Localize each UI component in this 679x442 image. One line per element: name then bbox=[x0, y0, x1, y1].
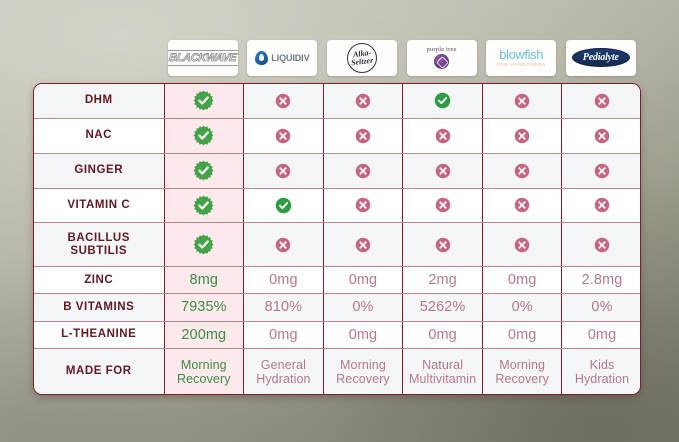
pink-cross-icon bbox=[403, 197, 482, 213]
cell-liquidiv: GeneralHydration bbox=[244, 349, 324, 394]
cell-value: 2.8mg bbox=[562, 272, 641, 288]
cell-value: 8mg bbox=[165, 272, 244, 288]
cell-value: 200mg bbox=[165, 327, 244, 343]
cell-alkaseltzer bbox=[323, 118, 403, 153]
pink-cross-icon bbox=[562, 93, 641, 109]
cell-value-line2: Recovery bbox=[165, 372, 244, 386]
cell-blowfish bbox=[482, 223, 562, 267]
cell-value-line1: Morning bbox=[324, 358, 403, 372]
brand-logo-pedialyte: Pedialyte bbox=[561, 37, 641, 78]
cell-value: 0% bbox=[483, 299, 562, 315]
purple-tree-wordmark: purple tree bbox=[426, 46, 456, 53]
cell-value-line2: Recovery bbox=[324, 372, 403, 386]
cell-value: 7935% bbox=[165, 299, 244, 315]
cell-liquidiv bbox=[244, 153, 324, 188]
cell-liquidiv: 810% bbox=[244, 294, 324, 321]
cell-purpletree bbox=[403, 118, 483, 153]
blackwave-logo: BLACKWAVE bbox=[168, 50, 238, 66]
row-label-made-for: MADE FOR bbox=[34, 349, 164, 394]
cell-value: 0mg bbox=[562, 327, 641, 343]
pink-cross-icon bbox=[324, 93, 403, 109]
cell-value-line2: Multivitamin bbox=[403, 372, 482, 386]
cell-blackwave bbox=[164, 153, 244, 188]
alka-seltzer-logo: Alka- Seltzer bbox=[347, 43, 377, 73]
pink-cross-icon bbox=[324, 163, 403, 179]
cell-blackwave bbox=[164, 84, 244, 118]
pink-cross-icon bbox=[244, 93, 323, 109]
pink-cross-icon bbox=[562, 128, 641, 144]
pink-cross-icon bbox=[403, 163, 482, 179]
purple-tree-emblem-icon bbox=[434, 54, 449, 69]
liquidiv-wordmark: LIQUIDIV bbox=[271, 53, 309, 63]
cell-pedialyte bbox=[562, 153, 641, 188]
brand-logo-purpletree: purple tree bbox=[402, 37, 482, 78]
cell-purpletree: NaturalMultivitamin bbox=[403, 349, 483, 394]
table-row: NAC bbox=[34, 118, 641, 153]
table-row: DHM bbox=[34, 84, 641, 118]
pink-cross-icon bbox=[244, 128, 323, 144]
pink-cross-icon bbox=[244, 163, 323, 179]
blowfish-logo: blowfish FOR HANGOVERS bbox=[496, 48, 545, 67]
cell-value: 0mg bbox=[324, 327, 403, 343]
cell-value: 2mg bbox=[403, 272, 482, 288]
row-label-b-vitamins: B VITAMINS bbox=[34, 294, 164, 321]
pink-cross-icon bbox=[483, 128, 562, 144]
pink-cross-icon bbox=[403, 237, 482, 253]
cell-blowfish bbox=[482, 84, 562, 118]
cell-pedialyte: 0mg bbox=[562, 321, 641, 348]
purple-tree-logo: purple tree bbox=[426, 46, 456, 69]
cell-liquidiv: 0mg bbox=[244, 267, 324, 294]
green-check-icon bbox=[403, 92, 482, 109]
brand-logo-blowfish: blowfish FOR HANGOVERS bbox=[481, 37, 561, 78]
cell-value-line2: Recovery bbox=[483, 372, 562, 386]
green-check-badge-icon bbox=[165, 125, 244, 146]
cell-value: 0mg bbox=[403, 327, 482, 343]
water-drop-icon bbox=[255, 51, 268, 65]
cell-purpletree bbox=[403, 153, 483, 188]
comparison-table: DHMNACGINGERVITAMIN CBACILLUSSUBTILISZIN… bbox=[34, 84, 641, 394]
cell-alkaseltzer: 0mg bbox=[323, 267, 403, 294]
cell-alkaseltzer bbox=[323, 223, 403, 267]
table-row: GINGER bbox=[34, 153, 641, 188]
blowfish-tagline: FOR HANGOVERS bbox=[496, 62, 545, 67]
cell-pedialyte: KidsHydration bbox=[562, 349, 641, 394]
cell-blackwave: MorningRecovery bbox=[164, 349, 244, 394]
cell-value-line1: Natural bbox=[403, 358, 482, 372]
cell-value: 0mg bbox=[483, 327, 562, 343]
brand-logo-liquidiv: LIQUIDIV bbox=[243, 37, 323, 78]
pink-cross-icon bbox=[324, 197, 403, 213]
cell-alkaseltzer: MorningRecovery bbox=[323, 349, 403, 394]
cell-liquidiv bbox=[244, 84, 324, 118]
green-check-badge-icon bbox=[165, 234, 244, 255]
cell-blackwave: 200mg bbox=[164, 321, 244, 348]
cell-pedialyte bbox=[562, 118, 641, 153]
pink-cross-icon bbox=[483, 197, 562, 213]
cell-value-line1: Morning bbox=[165, 358, 244, 372]
cell-value: 0mg bbox=[324, 272, 403, 288]
row-label-ginger: GINGER bbox=[34, 153, 164, 188]
table-row: MADE FORMorningRecoveryGeneralHydrationM… bbox=[34, 349, 641, 394]
cell-value-line1: Morning bbox=[483, 358, 562, 372]
row-label-zinc: ZINC bbox=[34, 267, 164, 294]
cell-value-line1: Kids bbox=[562, 358, 641, 372]
brand-logo-strip: BLACKWAVE LIQUIDIV Alka- Seltzer purple … bbox=[163, 37, 641, 78]
cell-purpletree: 2mg bbox=[403, 267, 483, 294]
pink-cross-icon bbox=[562, 197, 641, 213]
cell-alkaseltzer bbox=[323, 153, 403, 188]
pink-cross-icon bbox=[562, 237, 641, 253]
pink-cross-icon bbox=[562, 163, 641, 179]
cell-purpletree: 0mg bbox=[403, 321, 483, 348]
cell-value-line2: Hydration bbox=[562, 372, 641, 386]
cell-pedialyte: 0% bbox=[562, 294, 641, 321]
cell-blowfish bbox=[482, 118, 562, 153]
alka-seltzer-line2: Seltzer bbox=[350, 56, 373, 66]
cell-alkaseltzer bbox=[323, 84, 403, 118]
pink-cross-icon bbox=[324, 128, 403, 144]
green-check-badge-icon bbox=[165, 195, 244, 216]
cell-pedialyte bbox=[562, 223, 641, 267]
green-check-badge-icon bbox=[165, 90, 244, 111]
cell-value-line1: General bbox=[244, 358, 323, 372]
pink-cross-icon bbox=[483, 237, 562, 253]
brand-logo-blackwave: BLACKWAVE bbox=[163, 37, 243, 78]
cell-blowfish: 0% bbox=[482, 294, 562, 321]
comparison-table-card: DHMNACGINGERVITAMIN CBACILLUSSUBTILISZIN… bbox=[33, 83, 641, 395]
cell-blowfish: 0mg bbox=[482, 267, 562, 294]
cell-blowfish bbox=[482, 153, 562, 188]
table-row: L-THEANINE200mg0mg0mg0mg0mg0mg bbox=[34, 321, 641, 348]
pedialyte-logo: Pedialyte bbox=[572, 48, 630, 67]
row-label-l-theanine: L-THEANINE bbox=[34, 321, 164, 348]
green-check-icon bbox=[244, 197, 323, 214]
comparison-table-body: DHMNACGINGERVITAMIN CBACILLUSSUBTILISZIN… bbox=[34, 84, 641, 394]
pink-cross-icon bbox=[483, 163, 562, 179]
pink-cross-icon bbox=[403, 128, 482, 144]
cell-blowfish: 0mg bbox=[482, 321, 562, 348]
cell-value: 810% bbox=[244, 299, 323, 315]
table-row: VITAMIN C bbox=[34, 188, 641, 223]
liquidiv-logo: LIQUIDIV bbox=[255, 51, 309, 65]
blowfish-wordmark: blowfish bbox=[499, 48, 543, 61]
cell-liquidiv: 0mg bbox=[244, 321, 324, 348]
cell-pedialyte bbox=[562, 188, 641, 223]
table-row: B VITAMINS7935%810%0%5262%0%0% bbox=[34, 294, 641, 321]
green-check-badge-icon bbox=[165, 160, 244, 181]
cell-pedialyte: 2.8mg bbox=[562, 267, 641, 294]
cell-alkaseltzer bbox=[323, 188, 403, 223]
cell-value: 0mg bbox=[483, 272, 562, 288]
cell-value: 5262% bbox=[403, 299, 482, 315]
cell-liquidiv bbox=[244, 118, 324, 153]
pink-cross-icon bbox=[324, 237, 403, 253]
table-row: BACILLUSSUBTILIS bbox=[34, 223, 641, 267]
row-label-line2: SUBTILIS bbox=[34, 245, 164, 258]
pedialyte-wordmark: Pedialyte bbox=[583, 52, 619, 63]
cell-blackwave bbox=[164, 188, 244, 223]
cell-blackwave bbox=[164, 118, 244, 153]
cell-blowfish bbox=[482, 188, 562, 223]
cell-blackwave: 7935% bbox=[164, 294, 244, 321]
cell-blackwave: 8mg bbox=[164, 267, 244, 294]
cell-blackwave bbox=[164, 223, 244, 267]
cell-alkaseltzer: 0mg bbox=[323, 321, 403, 348]
row-label-dhm: DHM bbox=[34, 84, 164, 118]
pink-cross-icon bbox=[244, 237, 323, 253]
cell-purpletree bbox=[403, 84, 483, 118]
cell-purpletree bbox=[403, 223, 483, 267]
cell-pedialyte bbox=[562, 84, 641, 118]
pink-cross-icon bbox=[483, 93, 562, 109]
cell-value: 0mg bbox=[244, 327, 323, 343]
table-row: ZINC8mg0mg0mg2mg0mg2.8mg bbox=[34, 267, 641, 294]
cell-blowfish: MorningRecovery bbox=[482, 349, 562, 394]
brand-logo-alkaseltzer: Alka- Seltzer bbox=[322, 37, 402, 78]
row-label-vitamin-c: VITAMIN C bbox=[34, 188, 164, 223]
row-label-line1: BACILLUS bbox=[34, 232, 164, 245]
row-label-nac: NAC bbox=[34, 118, 164, 153]
cell-value: 0mg bbox=[244, 272, 323, 288]
cell-purpletree: 5262% bbox=[403, 294, 483, 321]
cell-liquidiv bbox=[244, 223, 324, 267]
cell-value: 0% bbox=[324, 299, 403, 315]
row-label-bacillus-subtilis: BACILLUSSUBTILIS bbox=[34, 223, 164, 267]
cell-value: 0% bbox=[562, 299, 641, 315]
cell-purpletree bbox=[403, 188, 483, 223]
cell-liquidiv bbox=[244, 188, 324, 223]
cell-value-line2: Hydration bbox=[244, 372, 323, 386]
cell-alkaseltzer: 0% bbox=[323, 294, 403, 321]
